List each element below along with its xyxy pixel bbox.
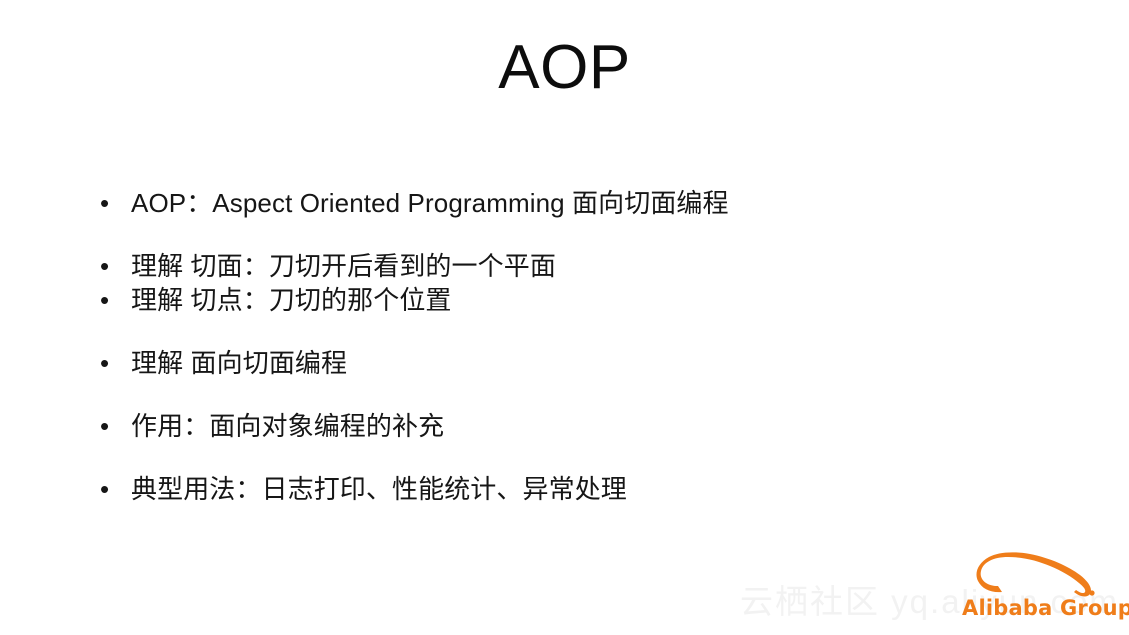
list-item: • 理解 面向切面编程	[96, 348, 1056, 378]
alibaba-group-wordmark: Alibaba Group	[962, 596, 1124, 620]
alibaba-group-logo: Alibaba Group	[962, 552, 1124, 630]
list-item-label: 理解 面向切面编程	[131, 348, 1056, 378]
list-item-label: 理解 切面：刀切开后看到的一个平面	[131, 251, 1056, 281]
list-item-label: 典型用法：日志打印、性能统计、异常处理	[131, 474, 1056, 504]
bullet-dot-icon: •	[96, 251, 131, 281]
list-item-label: 理解 切点：刀切的那个位置	[131, 285, 1056, 315]
list-item-label: AOP：Aspect Oriented Programming 面向切面编程	[131, 188, 1056, 218]
bullet-dot-icon: •	[96, 348, 131, 378]
list-item: • 理解 切点：刀切的那个位置	[96, 285, 1056, 315]
bullet-dot-icon: •	[96, 411, 131, 441]
list-item: • 作用：面向对象编程的补充	[96, 411, 1056, 441]
list-item: • 理解 切面：刀切开后看到的一个平面	[96, 251, 1056, 281]
page-title: AOP	[0, 34, 1129, 102]
bullet-dot-icon: •	[96, 474, 131, 504]
bullet-dot-icon: •	[96, 285, 131, 315]
list-item: • 典型用法：日志打印、性能统计、异常处理	[96, 474, 1056, 504]
presentation-slide: AOP • AOP：Aspect Oriented Programming 面向…	[0, 0, 1129, 635]
list-item: • AOP：Aspect Oriented Programming 面向切面编程	[96, 188, 1056, 218]
bullet-list: • AOP：Aspect Oriented Programming 面向切面编程…	[96, 188, 1056, 504]
list-item-label: 作用：面向对象编程的补充	[131, 411, 1056, 441]
bullet-dot-icon: •	[96, 188, 131, 218]
